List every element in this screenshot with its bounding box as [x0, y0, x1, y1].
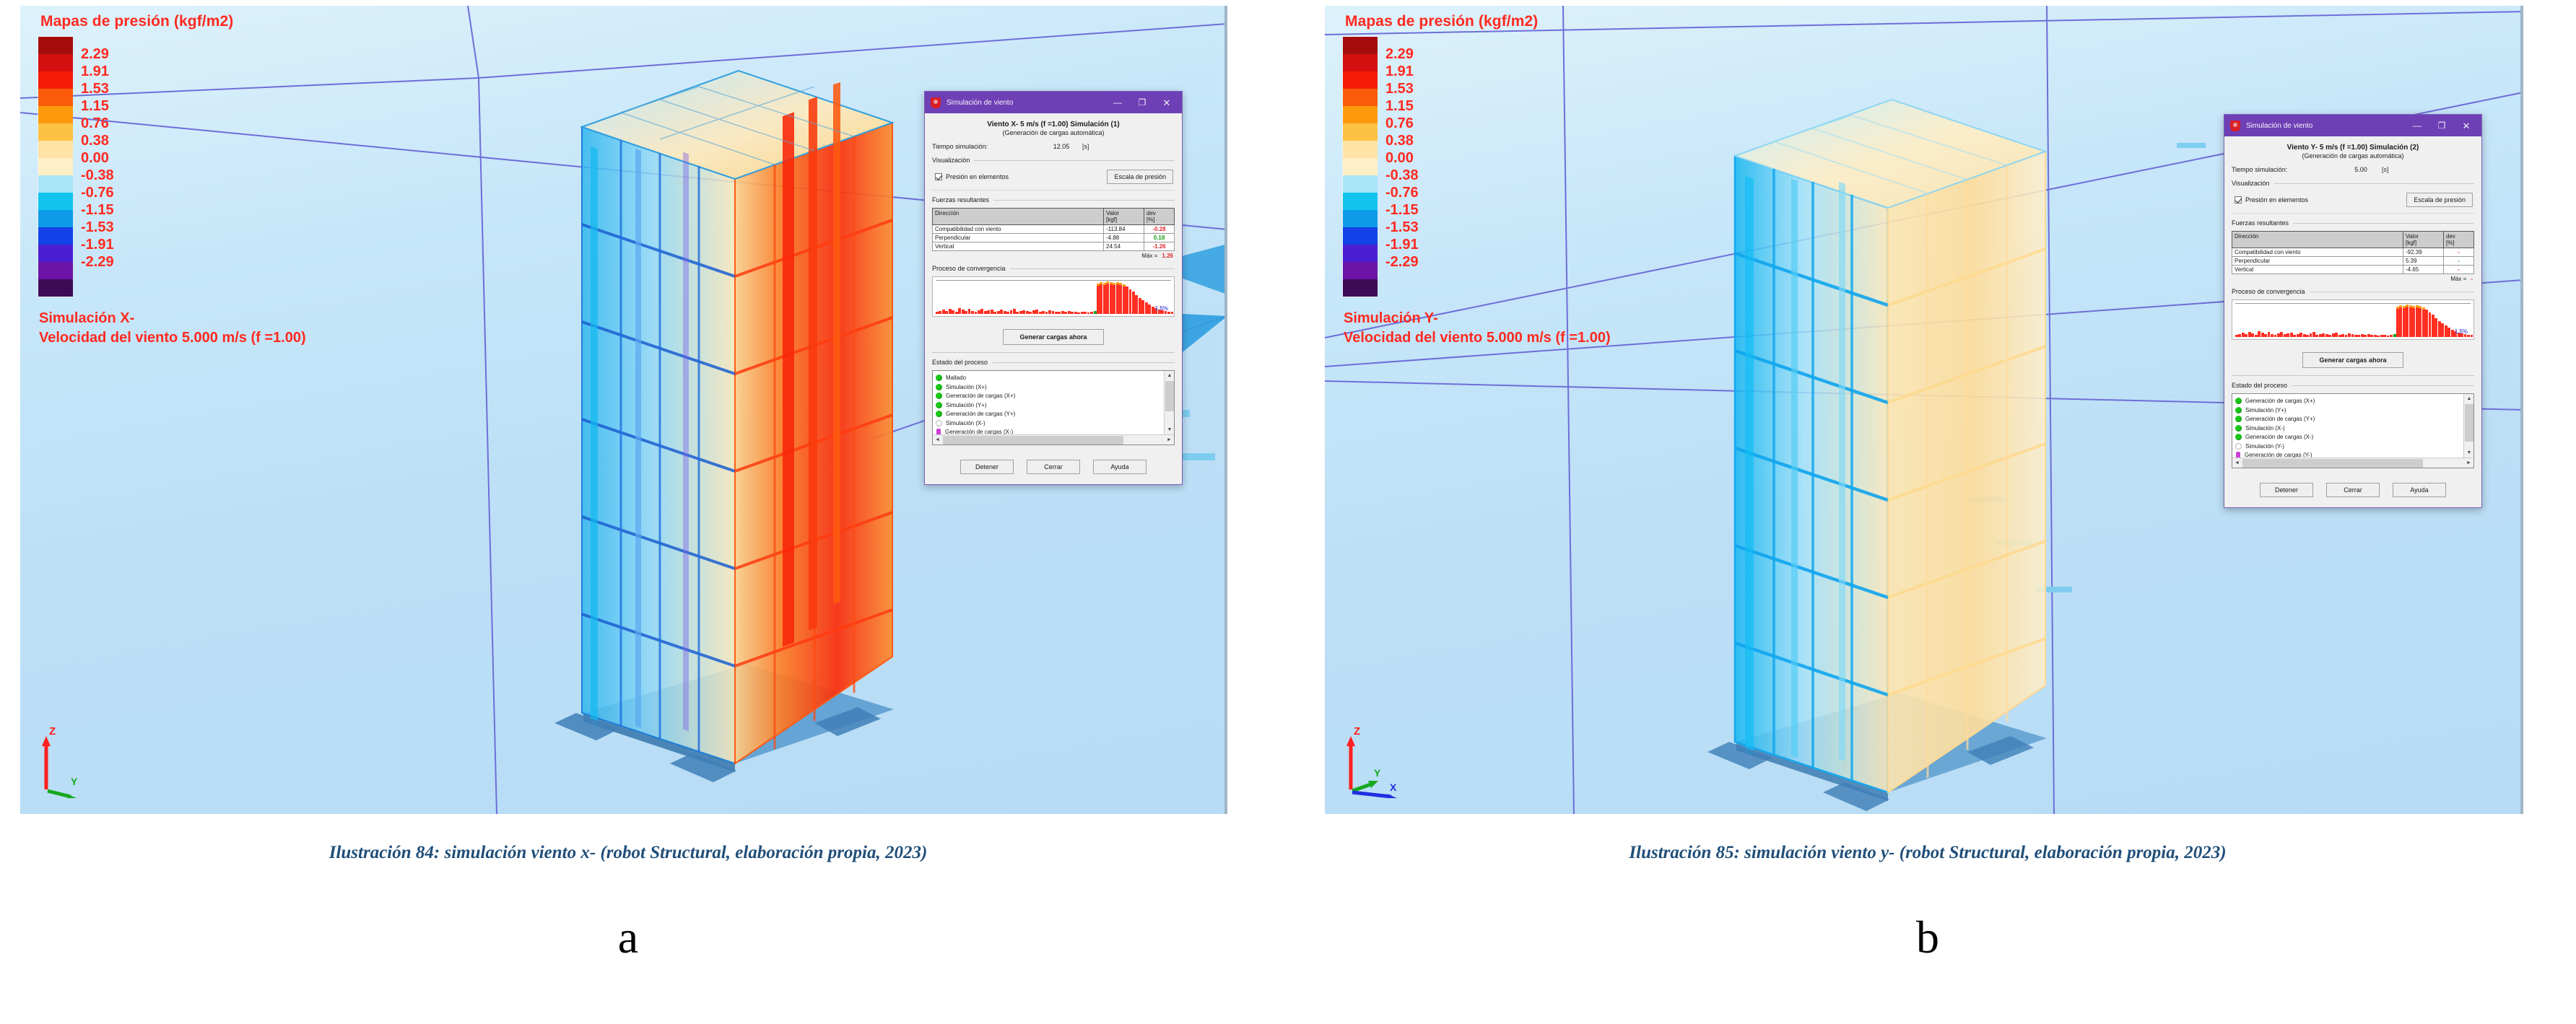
table-header-2: dev [%]: [2444, 232, 2474, 248]
pressure-elements-checkbox[interactable]: Presión en elementos: [2235, 196, 2308, 204]
dialog-subheading: (Generación de cargas automática): [2232, 152, 2474, 159]
legend-swatch-9: [38, 193, 73, 210]
legend-swatch-10: [1343, 210, 1378, 227]
convergence-bar: [2425, 310, 2428, 338]
hscroll-thumb[interactable]: [943, 436, 1123, 445]
convergence-bar: [1029, 312, 1032, 314]
app-icon: [2230, 121, 2240, 131]
convergence-bar-body: [1103, 285, 1106, 315]
convergence-bar: [1016, 312, 1019, 315]
help-button[interactable]: Ayuda: [2393, 483, 2446, 497]
pressure-elements-label: Presión en elementos: [946, 173, 1009, 180]
convergence-bar: [955, 312, 958, 315]
status-item-label: Simulación (Y+): [946, 402, 987, 408]
cell-direction: Vertical: [2232, 266, 2403, 274]
page-gutter: [1300, 0, 1321, 814]
convergence-group: Proceso de convergencia 1.5%: [2232, 288, 2474, 340]
close-button[interactable]: ✕: [1154, 92, 1179, 113]
table-header-0: Dirección: [2232, 232, 2403, 248]
convergence-bar: [936, 312, 939, 314]
convergence-bar-body: [1123, 286, 1126, 315]
list-item[interactable]: Simulación (Y-): [2235, 442, 2463, 451]
table-header-1: Valor [kgf]: [2403, 232, 2444, 248]
convergence-bar: [2432, 315, 2434, 337]
wind-speed-label: Velocidad del viento 5.000 m/s (f =1.00): [39, 328, 306, 348]
divider: [2232, 375, 2474, 376]
legend-value-1: 1.91: [81, 63, 114, 80]
legend-swatch-12: [1343, 245, 1378, 262]
generate-loads-button[interactable]: Generar cargas ahora: [2302, 352, 2403, 368]
convergence-bar: [1019, 311, 1022, 315]
viewport-3d-b[interactable]: Mapas de presión (kgf/m2) 2.291.911.531.…: [1325, 6, 2523, 814]
convergence-bar: [993, 312, 996, 315]
legend-value-10: -1.53: [81, 219, 114, 236]
convergence-bar: [962, 310, 965, 314]
convergence-bar: [2383, 335, 2386, 337]
convergence-bar: [2380, 335, 2383, 337]
status-pending-icon: [2235, 443, 2242, 450]
legend-swatch-3: [1343, 89, 1378, 106]
stop-button[interactable]: Detener: [960, 460, 1014, 474]
legend-swatch-6: [1343, 141, 1378, 158]
convergence-bar: [2467, 335, 2470, 337]
cell-direction: Compatibilidad con viento: [933, 225, 1104, 234]
status-item-label: Mallado: [946, 375, 966, 381]
legend-value-5: 0.38: [81, 132, 114, 149]
status-item-label: Generación de cargas (Y+): [946, 411, 1015, 417]
convergence-bar: [2255, 335, 2258, 338]
convergence-bar: [1004, 311, 1006, 314]
convergence-bar: [2261, 333, 2264, 337]
sim-time-label: Tiempo simulación:: [2232, 166, 2340, 173]
checkbox-icon[interactable]: [935, 173, 942, 180]
convergence-bar: [1074, 312, 1077, 315]
scroll-right-arrow[interactable]: ►: [1165, 435, 1174, 445]
cell-value: 5.39: [2403, 257, 2444, 266]
convergence-bar: [1010, 310, 1013, 314]
list-item[interactable]: Simulación (Y+): [2235, 406, 2463, 415]
vscroll-thumb[interactable]: [2465, 404, 2473, 442]
dialog-subheading: (Generación de cargas automática): [932, 129, 1175, 136]
convergence-group: Proceso de convergencia 1.5%: [932, 265, 1175, 317]
status-item-label: Generación de cargas (X+): [946, 393, 1015, 399]
convergence-bar: [987, 310, 990, 314]
visualization-group: Visualización Presión en elementos Escal…: [932, 157, 1175, 191]
table-row[interactable]: Perpendicular-4.880.18: [933, 234, 1175, 242]
dialog-titlebar[interactable]: Simulación de viento — ❐ ✕: [925, 92, 1182, 113]
convergence-bar: [1077, 312, 1080, 314]
convergence-bar: [2284, 334, 2286, 337]
convergence-bar: [949, 309, 952, 315]
convergence-bar: [2374, 335, 2377, 338]
cell-value: -4.88: [1104, 234, 1144, 242]
resultant-forces-table[interactable]: DirecciónValor [kgf]dev [%] Compatibilid…: [2232, 231, 2474, 274]
convergence-bar: [1145, 302, 1148, 314]
convergence-bar: [2438, 321, 2441, 338]
dialog-body: Viento Y- 5 m/s (f =1.00) Simulación (2)…: [2224, 136, 2481, 507]
max-label: Máx =: [1141, 253, 1157, 259]
convergence-bar: [2306, 335, 2309, 337]
sim-time-unit: [s]: [2382, 166, 2389, 173]
legend-swatch-7: [1343, 158, 1378, 175]
convergence-marker: [2393, 334, 2396, 337]
max-value: 1.26: [1162, 253, 1173, 259]
convergence-bar-body: [1119, 285, 1122, 315]
legend-value-9: -1.15: [1385, 201, 1419, 219]
viewport-3d-a[interactable]: Mapas de presión (kgf/m2) 2.291.911.531.…: [20, 6, 1227, 814]
pressure-elements-checkbox[interactable]: Presión en elementos: [935, 173, 1009, 180]
list-item[interactable]: Mallado: [936, 373, 1164, 382]
convergence-bar-body: [1113, 285, 1115, 314]
convergence-bar: [1139, 298, 1141, 315]
convergence-bar: [2303, 334, 2306, 337]
convergence-marker: [1094, 311, 1097, 314]
close-dialog-button[interactable]: Cerrar: [2326, 483, 2380, 497]
convergence-bar: [2271, 334, 2273, 338]
legend-value-1: 1.91: [1385, 63, 1419, 80]
legend-value-9: -1.15: [81, 201, 114, 219]
legend-swatch-4: [38, 106, 73, 123]
list-item[interactable]: Generación de cargas (Y+): [2235, 414, 2463, 424]
convergence-bar: [958, 308, 961, 315]
convergence-bar: [2299, 333, 2302, 337]
convergence-bar: [1084, 312, 1087, 314]
convergence-bar: [2312, 332, 2315, 337]
horizontal-scrollbar[interactable]: ◄ ►: [933, 434, 1174, 445]
convergence-bar-body: [2412, 308, 2415, 337]
table-header-2: dev [%]: [1144, 209, 1175, 225]
convergence-bar: [1061, 311, 1064, 315]
table-row[interactable]: Compatibilidad con viento-92.39-: [2232, 248, 2474, 257]
close-dialog-button[interactable]: Cerrar: [1027, 460, 1080, 474]
figure-caption-b: Ilustración 85: simulación viento y- (ro…: [1300, 843, 2556, 863]
legend-simulation-caption: Simulación X- Velocidad del viento 5.000…: [39, 309, 306, 348]
dialog-title: Simulación de viento: [947, 99, 1105, 107]
pressure-scale-button[interactable]: Escala de presión: [2406, 193, 2473, 207]
convergence-bar-body: [1110, 284, 1113, 314]
convergence-bar: [968, 309, 971, 314]
cell-direction: Vertical: [933, 242, 1104, 251]
table-body: Compatibilidad con viento-113.84-0.28Per…: [933, 225, 1175, 251]
status-item-label: Generación de cargas (Y-): [2245, 452, 2312, 458]
legend-swatch-1: [38, 54, 73, 71]
convergence-bar: [1058, 312, 1061, 315]
axis-triad-svg: Z Y X: [1335, 719, 1422, 798]
page-gutter: [0, 0, 22, 814]
max-deviation-row: Máx = -: [2232, 274, 2474, 282]
dialog-body: Viento X- 5 m/s (f =1.00) Simulación (1)…: [925, 113, 1182, 484]
dialog-footer-buttons: Detener Cerrar Ayuda: [2232, 474, 2474, 500]
legend-value-3: 1.15: [81, 97, 114, 115]
vertical-scrollbar[interactable]: ▲ ▼: [1164, 371, 1174, 434]
scroll-left-arrow[interactable]: ◄: [2232, 458, 2242, 468]
status-done-icon: [2235, 425, 2242, 432]
legend-swatch-11: [38, 227, 73, 245]
convergence-bar: [1068, 311, 1071, 314]
convergence-bar: [2310, 333, 2312, 337]
status-done-icon: [936, 375, 942, 381]
convergence-chart: 1.5%: [2232, 299, 2474, 340]
convergence-bar-body: [2416, 307, 2419, 338]
convergence-bar: [2387, 336, 2390, 337]
stop-button[interactable]: Detener: [2260, 483, 2313, 497]
cell-direction: Perpendicular: [2232, 257, 2403, 266]
convergence-bar: [1052, 311, 1055, 314]
axis-triad-svg: Z Y: [30, 719, 117, 798]
cell-value: 24.54: [1104, 242, 1144, 251]
status-item-label: Generación de cargas (X-): [2245, 434, 2313, 440]
legend-value-10: -1.53: [1385, 219, 1419, 236]
legend-swatch-6: [38, 141, 73, 158]
convergence-bar: [1022, 310, 1025, 315]
cell-direction: Perpendicular: [933, 234, 1104, 242]
convergence-bar: [2361, 334, 2364, 338]
panel-letter-b: b: [1300, 911, 2556, 964]
legend-swatch-0: [1343, 37, 1378, 54]
convergence-bar: [2345, 335, 2348, 337]
status-item-label: Simulación (Y-): [2245, 443, 2284, 450]
process-status-group: Estado del proceso Generación de cargas …: [2232, 382, 2474, 468]
figure-panel-b: Mapas de presión (kgf/m2) 2.291.911.531.…: [1300, 0, 2556, 1024]
legend-value-0: 2.29: [81, 45, 114, 63]
simulation-direction-label: Simulación X-: [39, 309, 306, 328]
convergence-bar: [2245, 334, 2248, 337]
cell-deviation: -: [2444, 266, 2474, 274]
sim-time-unit: [s]: [1082, 143, 1089, 150]
convergence-bar: [975, 312, 978, 314]
status-items[interactable]: MalladoSimulación (X+)Generación de carg…: [933, 371, 1164, 434]
legend-swatch-2: [1343, 71, 1378, 89]
dialog-footer-buttons: Detener Cerrar Ayuda: [932, 451, 1175, 477]
legend-value-7: -0.38: [81, 167, 114, 184]
legend-simulation-caption: Simulación Y- Velocidad del viento 5.000…: [1344, 309, 1611, 348]
legend-value-4: 0.76: [81, 115, 114, 132]
convergence-bar: [1126, 286, 1128, 315]
axis-triad-a: Z Y: [30, 719, 117, 798]
maximize-button[interactable]: ❐: [2429, 115, 2454, 136]
convergence-bar: [2447, 328, 2450, 337]
convergence-bar: [1039, 312, 1042, 315]
pressure-legend-a: Mapas de presión (kgf/m2) 2.291.911.531.…: [38, 13, 306, 348]
vscroll-thumb[interactable]: [1165, 381, 1174, 411]
status-item-label: Simulación (X-): [946, 420, 985, 426]
convergence-bar: [1055, 312, 1058, 314]
visualization-group: Visualización Presión en elementos Escal…: [2232, 180, 2474, 214]
scroll-right-arrow[interactable]: ►: [2464, 458, 2473, 468]
legend-swatch-9: [1343, 193, 1378, 210]
convergence-bar: [2357, 335, 2360, 338]
convergence-bar: [1064, 312, 1067, 314]
scroll-left-arrow[interactable]: ◄: [933, 435, 942, 445]
convergence-bar: [1042, 311, 1045, 315]
dialog-title: Simulación de viento: [2246, 122, 2405, 130]
convergence-bar: [2377, 336, 2380, 337]
table-row[interactable]: Compatibilidad con viento-113.84-0.28: [933, 225, 1175, 234]
axis-label-y: Y: [1374, 767, 1381, 779]
hscroll-thumb[interactable]: [2242, 459, 2423, 468]
convergence-bar: [2434, 318, 2437, 338]
convergence-bar: [2268, 332, 2271, 337]
legend-swatch-4: [1343, 106, 1378, 123]
legend-value-4: 0.76: [1385, 115, 1419, 132]
list-item[interactable]: Generación de cargas (X-): [2235, 432, 2463, 442]
legend-swatch-10: [38, 210, 73, 227]
list-item[interactable]: Generación de cargas (X+): [936, 391, 1164, 401]
list-item[interactable]: Simulación (Y+): [936, 401, 1164, 410]
app-icon: [931, 97, 941, 108]
legend-title: Mapas de presión (kgf/m2): [40, 13, 306, 30]
convergence-bar: [997, 311, 1000, 315]
convergence-bar: [1045, 312, 1048, 314]
minimize-button[interactable]: —: [2405, 115, 2429, 136]
convergence-group-title: Proceso de convergencia: [2232, 288, 2474, 295]
minimize-button[interactable]: —: [1105, 92, 1130, 113]
status-items[interactable]: Generación de cargas (X+)Simulación (Y+)…: [2232, 394, 2463, 458]
convergence-bar: [2238, 334, 2241, 338]
legend-value-8: -0.76: [1385, 184, 1419, 201]
pressure-elements-label: Presión en elementos: [2245, 196, 2308, 204]
convergence-bar: [2251, 333, 2254, 337]
convergence-bar: [2322, 333, 2325, 338]
convergence-bar: [1129, 289, 1132, 315]
wind-simulation-dialog-b[interactable]: Simulación de viento — ❐ ✕ Viento Y- 5 m…: [2224, 114, 2482, 508]
convergence-bar-body: [2409, 307, 2412, 337]
max-label: Máx =: [2450, 276, 2466, 282]
table-row[interactable]: Vertical24.54-1.26: [933, 242, 1175, 251]
dialog-titlebar[interactable]: Simulación de viento — ❐ ✕: [2224, 115, 2481, 136]
cell-deviation: 0.18: [1144, 234, 1175, 242]
convergence-bar: [952, 310, 954, 314]
convergence-bar: [1167, 312, 1170, 314]
convergence-bar: [1141, 300, 1144, 314]
axis-triad-b: Z Y X: [1335, 719, 1422, 798]
convergence-bar: [2290, 333, 2293, 338]
convergence-bar: [2354, 335, 2357, 337]
status-group-title: Estado del proceso: [932, 359, 1175, 366]
convergence-bar: [2370, 335, 2373, 337]
pressure-legend-b: Mapas de presión (kgf/m2) 2.291.911.531.…: [1342, 13, 1611, 348]
convergence-bar: [2390, 335, 2393, 337]
legend-value-labels: 2.291.911.531.150.760.380.00-0.38-0.76-1…: [81, 36, 114, 271]
convergence-bar-body: [2399, 307, 2402, 338]
convergence-bar-body: [2419, 308, 2421, 338]
status-active-icon: [2236, 452, 2240, 458]
convergence-bar: [978, 310, 980, 315]
legend-swatch-2: [38, 71, 73, 89]
list-item[interactable]: Generación de cargas (Y+): [936, 409, 1164, 419]
convergence-bar: [939, 311, 941, 315]
convergence-bar-body: [1097, 286, 1100, 315]
process-status-listbox[interactable]: Generación de cargas (X+)Simulación (Y+)…: [2232, 393, 2474, 468]
status-done-icon: [2235, 407, 2242, 413]
resultant-forces-group: Fuerzas resultantes DirecciónValor [kgf]…: [932, 196, 1175, 259]
legend-value-7: -0.38: [1385, 167, 1419, 184]
convergence-bar: [1035, 310, 1038, 314]
process-status-listbox[interactable]: MalladoSimulación (X+)Generación de carg…: [932, 370, 1175, 445]
status-item-label: Generación de cargas (X-): [945, 429, 1013, 434]
cell-value: -92.39: [2403, 248, 2444, 257]
generate-loads-button[interactable]: Generar cargas ahora: [1003, 329, 1103, 345]
scroll-down-arrow[interactable]: ▼: [2464, 448, 2474, 458]
scroll-up-arrow[interactable]: ▲: [1165, 371, 1175, 380]
legend-value-11: -1.91: [81, 236, 114, 253]
legend-color-swatches: [1342, 36, 1377, 297]
vertical-scrollbar[interactable]: ▲ ▼: [2463, 394, 2473, 458]
convergence-bar: [2264, 334, 2267, 337]
convergence-percent: 1.5%: [2455, 328, 2468, 335]
resultant-forces-table[interactable]: DirecciónValor [kgf]dev [%] Compatibilid…: [932, 208, 1175, 251]
close-button[interactable]: ✕: [2454, 115, 2479, 136]
scroll-down-arrow[interactable]: ▼: [1165, 425, 1175, 434]
cell-deviation: -1.26: [1144, 242, 1175, 251]
wind-speed-label: Velocidad del viento 5.000 m/s (f =1.00): [1344, 328, 1611, 348]
checkbox-icon[interactable]: [2235, 196, 2242, 204]
pressure-scale-button[interactable]: Escala de presión: [1107, 170, 1173, 184]
convergence-bar: [2367, 334, 2370, 337]
convergence-bar: [1013, 309, 1016, 314]
convergence-bar: [984, 311, 987, 314]
figure-page: Mapas de presión (kgf/m2) 2.291.911.531.…: [0, 0, 2576, 1024]
convergence-bar: [942, 310, 945, 315]
status-done-icon: [2235, 416, 2242, 422]
legend-value-11: -1.91: [1385, 236, 1419, 253]
status-done-icon: [936, 411, 942, 417]
convergence-bar: [2445, 325, 2447, 337]
convergence-bar: [2338, 335, 2341, 338]
table-row[interactable]: Vertical-4.65-: [2232, 266, 2474, 274]
figure-caption-a: Ilustración 84: simulación viento x- (ro…: [0, 843, 1256, 863]
status-group-title: Estado del proceso: [2232, 382, 2474, 389]
simulation-direction-label: Simulación Y-: [1344, 309, 1611, 328]
list-item[interactable]: Simulación (X-): [2235, 424, 2463, 433]
convergence-bar: [2293, 335, 2296, 338]
convergence-bar: [1000, 310, 1003, 314]
legend-value-3: 1.15: [1385, 97, 1419, 115]
list-item[interactable]: Generación de cargas (Y-): [2235, 450, 2463, 458]
legend-title: Mapas de presión (kgf/m2): [1345, 13, 1611, 30]
list-item[interactable]: Generación de cargas (X-): [936, 427, 1164, 434]
convergence-bar: [1132, 292, 1135, 314]
convergence-bars: [2235, 304, 2471, 337]
convergence-bar: [2451, 330, 2454, 338]
convergence-bar: [2280, 332, 2283, 338]
list-item[interactable]: Simulación (X+): [936, 382, 1164, 392]
legend-value-12: -2.29: [81, 253, 114, 271]
help-button[interactable]: Ayuda: [1093, 460, 1146, 474]
legend-value-6: 0.00: [81, 149, 114, 167]
cell-direction: Compatibilidad con viento: [2232, 248, 2403, 257]
table-row[interactable]: Perpendicular5.39-: [2232, 257, 2474, 266]
convergence-bar: [2429, 312, 2432, 338]
list-item[interactable]: Generación de cargas (X+): [2235, 396, 2463, 406]
convergence-group-title: Proceso de convergencia: [932, 265, 1175, 272]
convergence-bar: [1090, 312, 1093, 314]
maximize-button[interactable]: ❐: [1130, 92, 1154, 113]
status-done-icon: [2235, 398, 2242, 404]
scroll-up-arrow[interactable]: ▲: [2464, 394, 2474, 403]
convergence-bar: [2248, 332, 2251, 338]
table-header-row: DirecciónValor [kgf]dev [%]: [933, 209, 1175, 225]
status-done-icon: [936, 384, 942, 390]
convergence-bar: [2325, 334, 2328, 337]
list-item[interactable]: Simulación (X-): [936, 419, 1164, 428]
forces-group-title: Fuerzas resultantes: [2232, 219, 2474, 227]
dialog-heading: Viento Y- 5 m/s (f =1.00) Simulación (2): [2232, 144, 2474, 152]
horizontal-scrollbar[interactable]: ◄ ►: [2232, 458, 2473, 468]
convergence-bar: [2258, 331, 2260, 338]
convergence-bar: [1071, 312, 1074, 314]
wind-simulation-dialog-a[interactable]: Simulación de viento — ❐ ✕ Viento X- 5 m…: [924, 91, 1183, 485]
